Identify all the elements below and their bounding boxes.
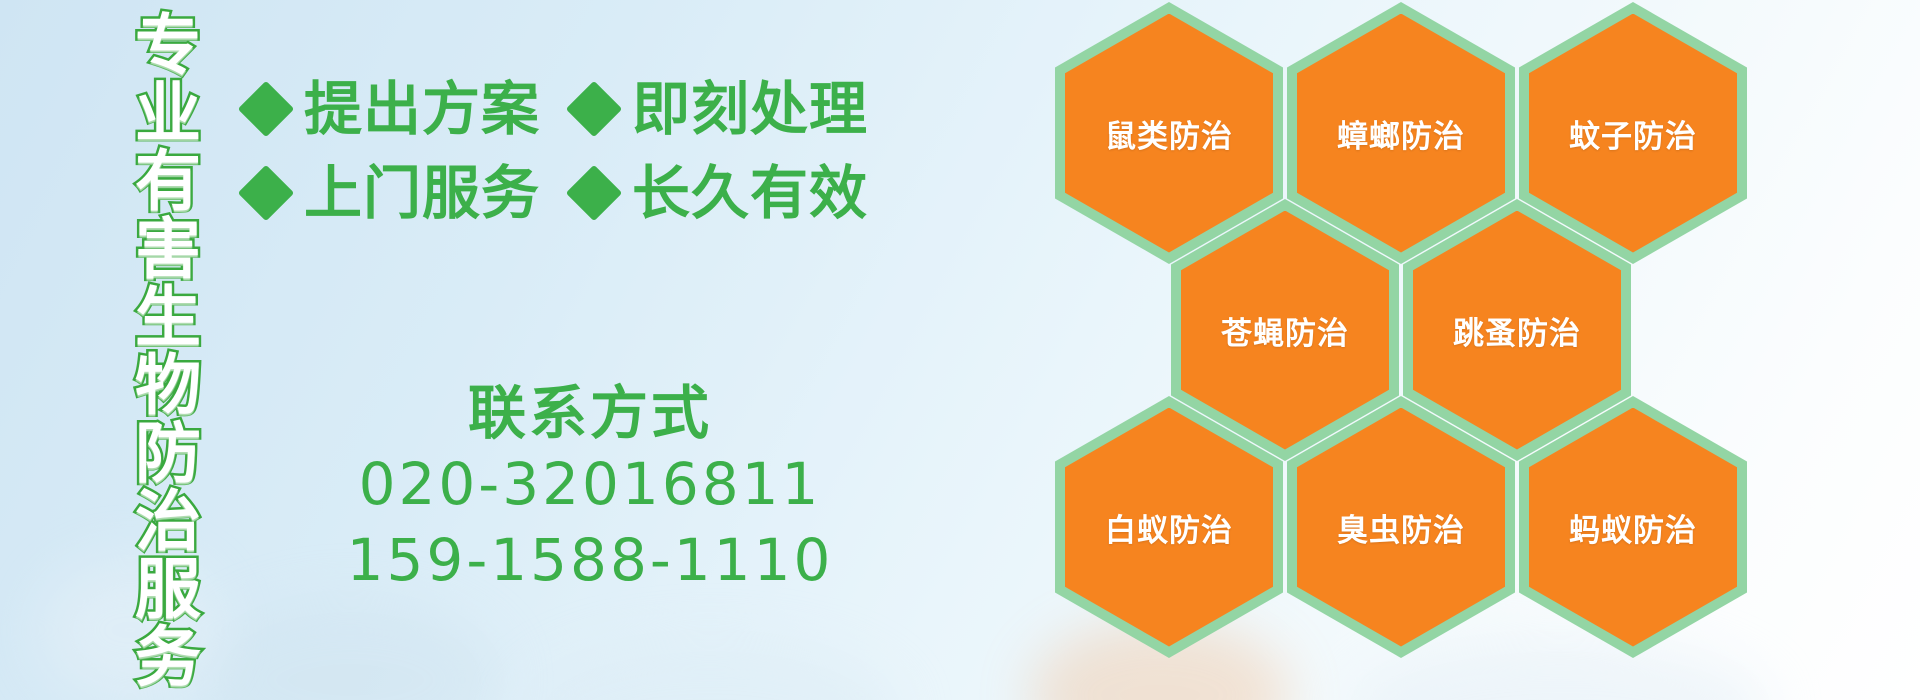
service-honeycomb: 鼠类防治 蟑螂防治 蚊子防治 苍蝇防治 跳蚤防治 白蚁防治 [1055, 0, 1815, 688]
background-blob [520, 640, 900, 700]
contact-block: 联系方式 020-32016811 159-1588-1110 [300, 380, 880, 598]
diamond-icon [566, 165, 623, 222]
hex-label: 鼠类防治 [1105, 111, 1233, 156]
hex-label: 蚊子防治 [1569, 111, 1697, 156]
feature-item: 即刻处理 [574, 78, 868, 140]
hex-inner: 蚂蚁防治 [1529, 408, 1737, 647]
feature-label: 提出方案 [304, 78, 540, 140]
phone-number-mobile[interactable]: 159-1588-1110 [300, 522, 880, 598]
hex-label: 白蚁防治 [1105, 505, 1233, 550]
hex-label: 蟑螂防治 [1337, 111, 1465, 156]
phone-number-landline[interactable]: 020-32016811 [300, 446, 880, 522]
vertical-title-char: 有 [135, 148, 201, 216]
hex-inner: 鼠类防治 [1065, 14, 1273, 253]
feature-list: 提出方案 即刻处理 上门服务 长久有效 [246, 78, 886, 246]
background-blob [200, 600, 500, 700]
feature-label: 即刻处理 [632, 78, 868, 140]
pest-control-banner: 专 业 有 害 生 物 防 治 服 务 提出方案 即刻处理 上门服务 [0, 0, 1920, 700]
feature-row: 提出方案 即刻处理 [246, 78, 886, 140]
vertical-title-char: 治 [135, 488, 201, 556]
hex-label: 苍蝇防治 [1221, 308, 1349, 353]
vertical-title-char: 服 [135, 556, 201, 624]
vertical-title-char: 防 [135, 420, 201, 488]
vertical-title-char: 务 [135, 624, 201, 692]
hex-inner: 臭虫防治 [1297, 408, 1505, 647]
contact-title: 联系方式 [300, 380, 880, 446]
hex-inner: 蟑螂防治 [1297, 14, 1505, 253]
vertical-title-char: 害 [135, 216, 201, 284]
hex-inner: 苍蝇防治 [1181, 211, 1389, 450]
hex-inner: 白蚁防治 [1065, 408, 1273, 647]
feature-label: 长久有效 [632, 162, 868, 224]
vertical-title-char: 生 [135, 284, 201, 352]
hex-label: 跳蚤防治 [1453, 308, 1581, 353]
hex-inner: 蚊子防治 [1529, 14, 1737, 253]
feature-item: 长久有效 [574, 162, 868, 224]
feature-label: 上门服务 [304, 162, 540, 224]
feature-item: 提出方案 [246, 78, 540, 140]
vertical-title-char: 业 [135, 80, 201, 148]
diamond-icon [566, 81, 623, 138]
vertical-title: 专 业 有 害 生 物 防 治 服 务 [112, 12, 224, 572]
vertical-title-char: 专 [135, 12, 201, 80]
vertical-title-char: 物 [135, 352, 201, 420]
hex-label: 蚂蚁防治 [1569, 505, 1697, 550]
feature-row: 上门服务 长久有效 [246, 162, 886, 224]
hex-inner: 跳蚤防治 [1413, 211, 1621, 450]
diamond-icon [238, 81, 295, 138]
feature-item: 上门服务 [246, 162, 540, 224]
hex-label: 臭虫防治 [1337, 505, 1465, 550]
diamond-icon [238, 165, 295, 222]
